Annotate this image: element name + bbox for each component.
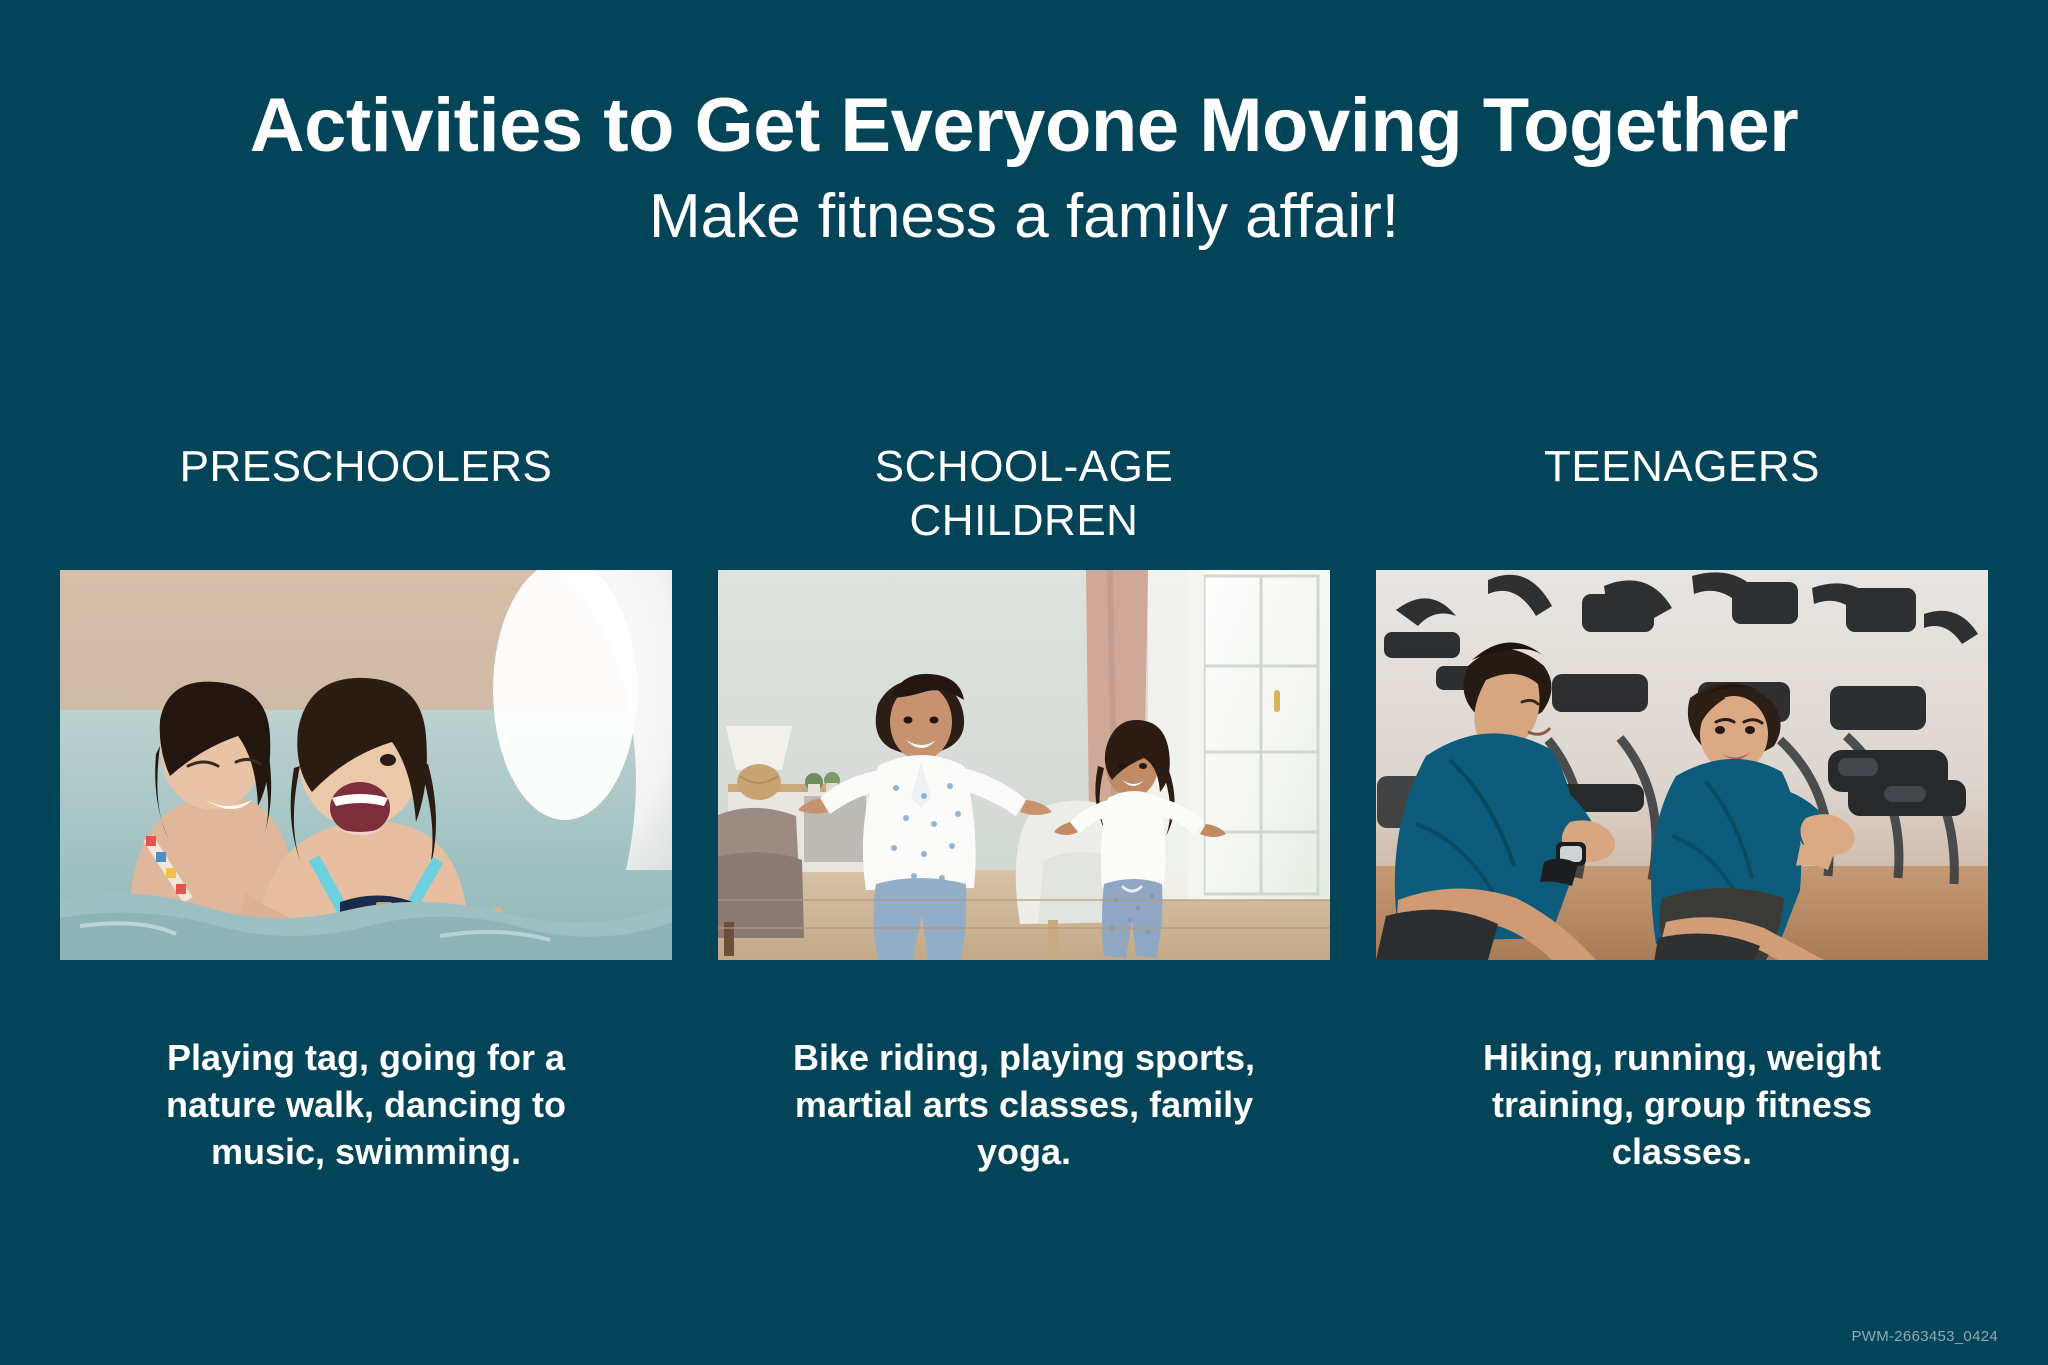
column-teenagers: TEENAGERS xyxy=(1376,440,1988,1175)
page-title: Activities to Get Everyone Moving Togeth… xyxy=(0,86,2048,166)
column-heading-preschoolers: PRESCHOOLERS xyxy=(180,440,553,570)
poster-canvas: Activities to Get Everyone Moving Togeth… xyxy=(0,0,2048,1365)
caption-preschoolers: Playing tag, going for a nature walk, da… xyxy=(131,1035,601,1175)
header-block: Activities to Get Everyone Moving Togeth… xyxy=(0,86,2048,251)
caption-school-age-children: Bike riding, playing sports, martial art… xyxy=(789,1035,1259,1175)
column-heading-teenagers: TEENAGERS xyxy=(1544,440,1820,570)
column-heading-school-age-children: SCHOOL-AGE CHILDREN xyxy=(814,440,1234,570)
column-preschoolers: PRESCHOOLERS xyxy=(60,440,672,1175)
photo-preschoolers-swimming xyxy=(60,570,672,960)
column-school-age-children: SCHOOL-AGE CHILDREN xyxy=(718,440,1330,1175)
activity-columns: PRESCHOOLERS xyxy=(60,440,1988,1175)
page-subtitle: Make fitness a family affair! xyxy=(0,184,2048,251)
photo-gym-lunges xyxy=(1376,570,1988,960)
photo-family-yoga-living-room xyxy=(718,570,1330,960)
caption-teenagers: Hiking, running, weight training, group … xyxy=(1447,1035,1917,1175)
document-code: PWM-2663453_0424 xyxy=(1851,1328,1998,1345)
